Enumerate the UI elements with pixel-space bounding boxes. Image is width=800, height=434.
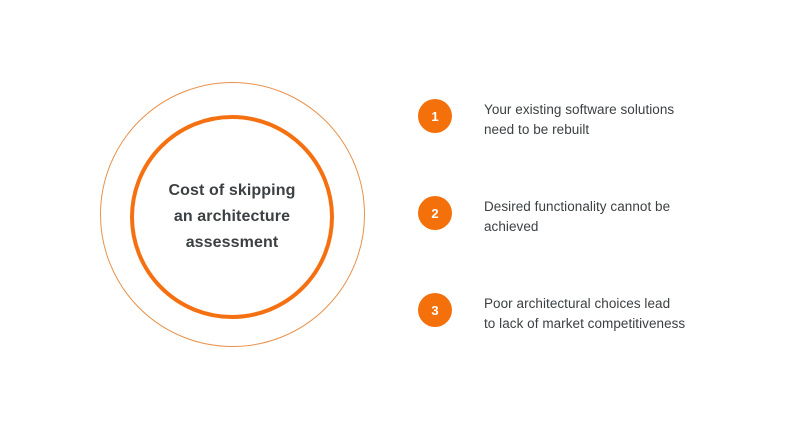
center-title: Cost of skipping an architecture assessm… xyxy=(147,178,317,256)
center-title-line-3: assessment xyxy=(147,230,317,256)
item-text-line-2: need to be rebuilt xyxy=(484,120,674,140)
item-text: Poor architectural choices lead to lack … xyxy=(484,294,685,334)
center-title-line-1: Cost of skipping xyxy=(147,178,317,204)
item-number-badge: 2 xyxy=(418,196,452,230)
inner-ring: Cost of skipping an architecture assessm… xyxy=(130,115,334,319)
item-text-line-1: Desired functionality cannot be xyxy=(484,197,670,217)
item-text: Desired functionality cannot be achieved xyxy=(484,197,670,237)
item-number-badge: 1 xyxy=(418,99,452,133)
list-item: 1 Your existing software solutions need … xyxy=(418,99,738,140)
list-item: 3 Poor architectural choices lead to lac… xyxy=(418,293,738,334)
item-text-line-1: Your existing software solutions xyxy=(484,100,674,120)
item-text: Your existing software solutions need to… xyxy=(484,100,674,140)
list-item: 2 Desired functionality cannot be achiev… xyxy=(418,196,738,237)
item-text-line-1: Poor architectural choices lead xyxy=(484,294,685,314)
item-number-badge: 3 xyxy=(418,293,452,327)
infographic-root: Cost of skipping an architecture assessm… xyxy=(0,0,800,434)
item-text-line-2: to lack of market competitiveness xyxy=(484,314,685,334)
item-text-line-2: achieved xyxy=(484,217,670,237)
concentric-circles: Cost of skipping an architecture assessm… xyxy=(100,82,367,349)
consequences-list: 1 Your existing software solutions need … xyxy=(418,99,738,334)
center-title-line-2: an architecture xyxy=(147,204,317,230)
